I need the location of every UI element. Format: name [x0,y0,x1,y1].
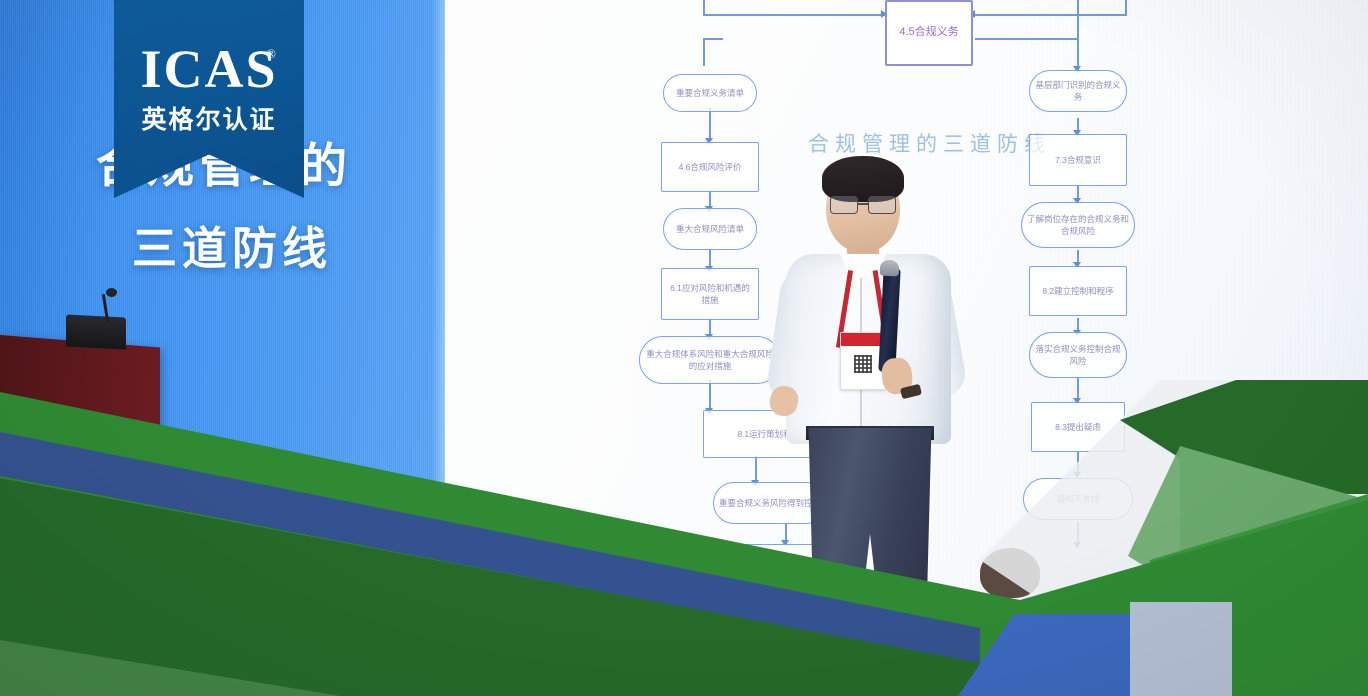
flow-node: 4.5合规义务 [885,0,973,66]
badge-header-band [841,333,885,346]
connector [709,108,711,140]
audience-head [182,600,252,658]
podium [0,334,160,477]
flow-node: 重大合规风险清单 [663,208,757,250]
speaker-trousers [806,428,934,624]
flow-node: 4.6合规风险评价 [661,142,759,192]
flow-node: 8.2建立控制和程序 [1029,266,1127,316]
speaker-figure [770,150,985,620]
eyeglasses-icon [829,196,897,213]
flow-node: 6.1应对风险和机遇的措施 [661,268,759,320]
flow-node: 基层部门识别的合规义务 [1029,70,1127,112]
flow-node: 疑似不合规 [1023,478,1133,520]
connector [975,14,1127,16]
microphone-grille-icon [880,260,900,277]
connector [703,38,705,66]
flow-node: 重要合规义务清单 [663,74,757,112]
connector [1125,0,1127,16]
audience-head [614,540,680,596]
arrow-icon [1073,542,1081,548]
connector [1077,0,1079,70]
flow-node: 重大合规体系风险和重大合规风险的应对措施 [639,336,781,384]
flow-node: 落实合规义务控制合规风险 [1029,332,1127,378]
icas-chinese-name: 英格尔认证 [114,100,304,136]
audience-head [980,548,1040,598]
podium-console [66,314,126,349]
flow-node: 了解岗位存在的合规义务和合规风险 [1021,202,1135,248]
flow-node: 8.3提出疑虑 [1031,402,1125,452]
connector [975,38,1077,40]
presentation-photo-stage: 合规管理的 三道防线 ICAS ® 英格尔认证 合规管理的三道防线 [0,0,1368,696]
connector [703,38,723,40]
microphone-capsule-icon [106,288,117,297]
connector [703,0,705,16]
registered-mark-icon: ® [266,46,276,62]
qr-code-icon [854,355,872,373]
slide-title-line-2: 三道防线 [132,212,332,277]
connector [703,14,885,16]
flow-node: 7.3合规意识 [1029,134,1127,186]
